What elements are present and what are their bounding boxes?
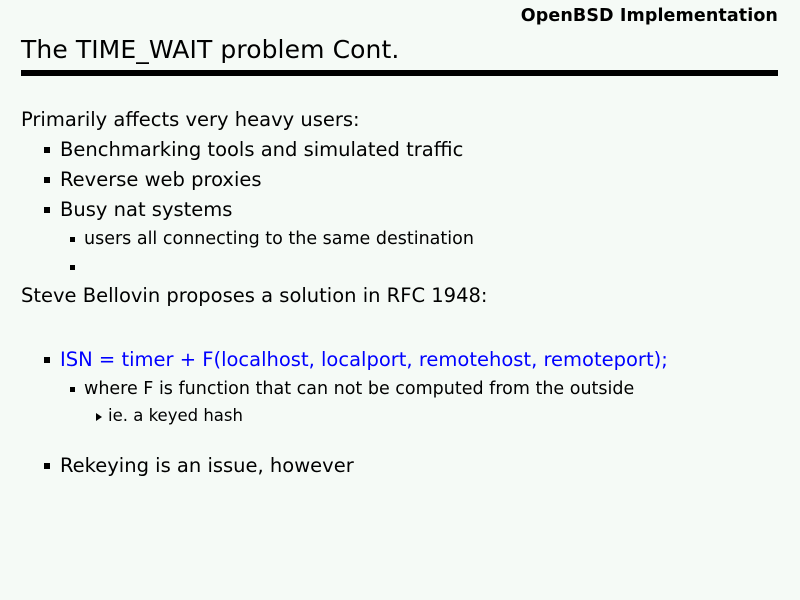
sub-bullet-item-empty	[0, 253, 800, 281]
small-square-bullet-icon	[70, 387, 75, 392]
vertical-spacer	[0, 429, 800, 451]
bullet-item-highlight: ISN = timer + F(localhost, localport, re…	[0, 345, 800, 375]
square-bullet-icon	[44, 463, 50, 469]
bullet-label: Busy nat systems	[60, 198, 232, 221]
sub-bullet-item: users all connecting to the same destina…	[0, 225, 800, 253]
bullet-label: Rekeying is an issue, however	[60, 454, 354, 477]
small-square-bullet-icon	[70, 265, 75, 270]
square-bullet-icon	[44, 357, 50, 363]
bullet-label: Reverse web proxies	[60, 168, 262, 191]
vertical-spacer	[0, 311, 800, 345]
sub-bullet-item: where F is function that can not be comp…	[0, 375, 800, 403]
sub-sub-bullet-label: ie. a keyed hash	[108, 406, 243, 425]
square-bullet-icon	[44, 177, 50, 183]
body-line: Primarily affects very heavy users:	[0, 105, 800, 135]
title-divider	[21, 70, 778, 76]
square-bullet-icon	[44, 147, 50, 153]
bullet-label-formula: ISN = timer + F(localhost, localport, re…	[60, 348, 668, 371]
small-square-bullet-icon	[70, 237, 75, 242]
presentation-slide: OpenBSD Implementation The TIME_WAIT pro…	[0, 0, 800, 600]
sub-bullet-label: where F is function that can not be comp…	[84, 379, 634, 399]
body-line: Steve Bellovin proposes a solution in RF…	[0, 281, 800, 311]
square-bullet-icon	[44, 207, 50, 213]
bullet-label: Benchmarking tools and simulated traffic	[60, 138, 463, 161]
page-title: The TIME_WAIT problem Cont.	[21, 37, 399, 63]
sub-bullet-label: users all connecting to the same destina…	[84, 229, 474, 249]
body-line-text: Steve Bellovin proposes a solution in RF…	[21, 284, 487, 307]
body-line-text: Primarily affects very heavy users:	[21, 108, 360, 131]
bullet-item: Rekeying is an issue, however	[0, 451, 800, 481]
sub-sub-bullet-item: ie. a keyed hash	[0, 403, 800, 429]
bullet-item: Reverse web proxies	[0, 165, 800, 195]
bullet-item: Benchmarking tools and simulated traffic	[0, 135, 800, 165]
slide-header: OpenBSD Implementation	[521, 6, 778, 26]
slide-body: Primarily affects very heavy users: Benc…	[0, 105, 800, 481]
bullet-item: Busy nat systems	[0, 195, 800, 225]
triangle-bullet-icon	[96, 413, 102, 421]
